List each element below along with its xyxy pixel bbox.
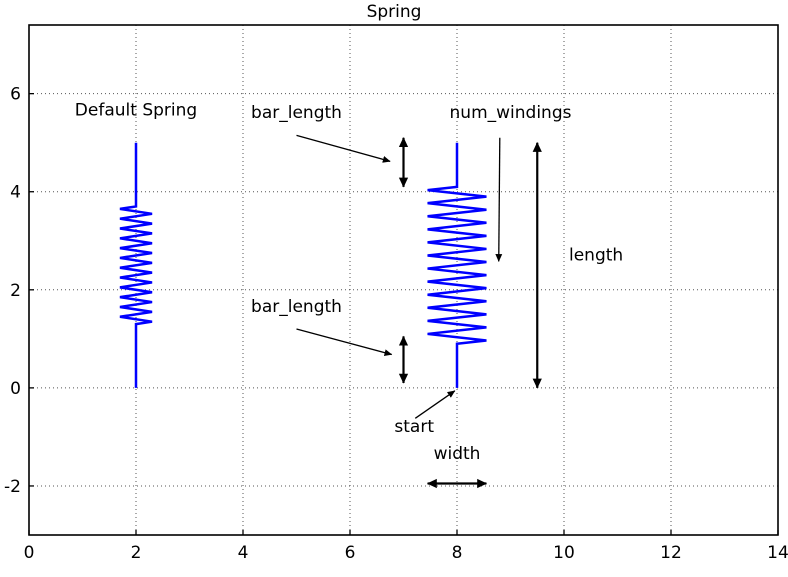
- x-tick-label: 14: [767, 543, 788, 563]
- y-tick-label: 4: [10, 183, 21, 203]
- y-tick-label: 2: [10, 281, 21, 301]
- x-tick-label: 10: [553, 543, 575, 563]
- x-tick-label: 12: [660, 543, 682, 563]
- y-tick-label: 0: [10, 379, 21, 399]
- default-spring-label: Default Spring: [75, 101, 197, 121]
- start-label: start: [394, 417, 434, 437]
- matplotlib-figure: 02468101214-20246Default Springbar_lengt…: [0, 0, 788, 577]
- x-tick-label: 8: [452, 543, 463, 563]
- bar-length-bottom-label: bar_length: [251, 297, 342, 317]
- x-tick-label: 0: [24, 543, 35, 563]
- x-tick-label: 6: [345, 543, 356, 563]
- x-tick-label: 4: [238, 543, 249, 563]
- y-tick-label: 6: [10, 85, 21, 105]
- num-windings-label: num_windings: [450, 103, 572, 123]
- spring-plot-canvas: 02468101214-20246Default Springbar_lengt…: [0, 0, 788, 577]
- chart-title: Spring: [367, 0, 422, 22]
- y-tick-label: -2: [4, 477, 21, 497]
- width-label: width: [434, 444, 481, 464]
- bar-length-top-label: bar_length: [251, 103, 342, 123]
- x-tick-label: 2: [131, 543, 142, 563]
- length-label: length: [569, 245, 623, 265]
